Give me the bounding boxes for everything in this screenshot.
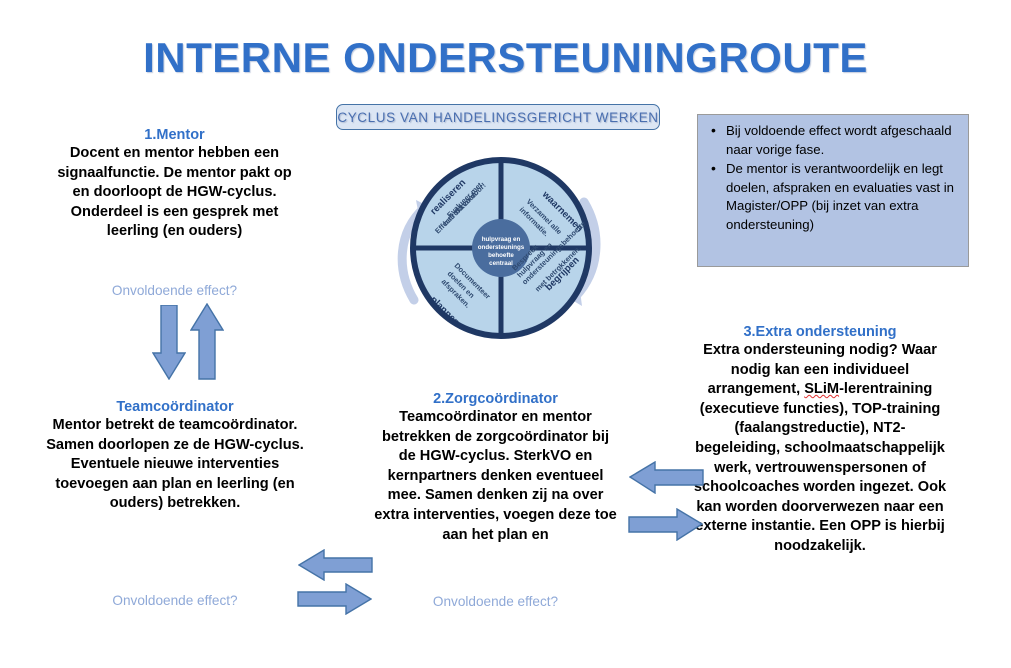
block-zorgcoordinator: 2.Zorgcoördinator Teamcoördinator en men… [374,390,617,545]
block-zorgcoordinator-heading: 2.Zorgcoördinator [374,390,617,408]
block-mentor-body: Docent en mentor hebben een signaalfunct… [47,144,302,242]
page-title: INTERNE ONDERSTEUNINGROUTE [0,34,1011,82]
block-extra-ondersteuning: 3.Extra ondersteuning Extra ondersteunin… [692,323,948,557]
teamcoordinator-fail-note: Onvoldoende effect? [45,592,305,609]
info-box-list: Bij voldoende effect wordt afgeschaald n… [704,122,958,235]
info-box: Bij voldoende effect wordt afgeschaald n… [697,114,969,267]
hub-line-3: behoefte [488,252,514,259]
arrow-right-icon-team [297,583,372,615]
block-mentor-heading: 1.Mentor [47,126,302,144]
arrow-left-icon-team [298,549,373,581]
block-extra-ondersteuning-body: Extra ondersteuning nodig? Waar nodig ka… [692,341,948,557]
arrow-right-icon-extra [628,508,703,541]
arrow-down-icon-mentor [152,305,186,380]
extra-body-part2: -lerentraining (executieve functies), TO… [694,381,946,554]
hub-line-2: ondersteunings [478,244,525,251]
block-teamcoordinator: Teamcoördinator Mentor betrekt de teamco… [45,398,305,514]
hub-line-1: hulpvraag en [482,236,521,243]
block-teamcoordinator-body: Mentor betrekt de teamcoördinator. Samen… [45,416,305,514]
block-zorgcoordinator-body: Teamcoördinator en mentor betrekken de z… [374,408,617,545]
block-extra-ondersteuning-heading: 3.Extra ondersteuning [692,323,948,341]
cycle-wheel-diagram: hulpvraag en ondersteunings behoefte cen… [386,140,616,355]
block-teamcoordinator-heading: Teamcoördinator [45,398,305,416]
block-mentor: 1.Mentor Docent en mentor hebben een sig… [47,126,302,242]
info-box-bullet-1: Bij voldoende effect wordt afgeschaald n… [724,122,958,159]
mentor-fail-note: Onvoldoende effect? [47,282,302,299]
info-box-bullet-2: De mentor is verantwoordelijk en legt do… [724,160,958,234]
arrow-up-icon-mentor [190,303,224,380]
cycle-banner: CYCLUS VAN HANDELINGSGERICHT WERKEN [336,104,660,130]
zorgcoordinator-fail-note: Onvoldoende effect? [374,593,617,610]
arrow-left-icon-extra [629,461,704,494]
extra-body-spellcheck-term: SLiM [804,381,839,397]
